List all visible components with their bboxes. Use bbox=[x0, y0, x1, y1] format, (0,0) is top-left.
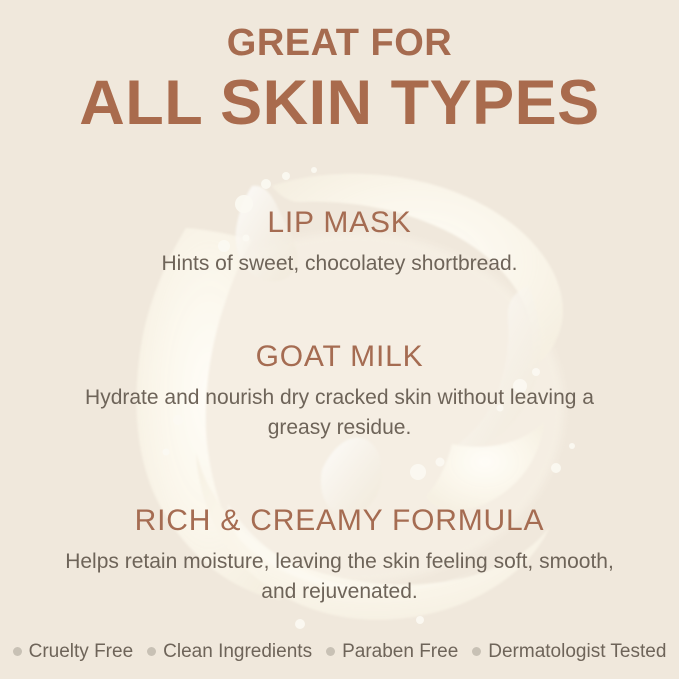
badge-paraben-free: Paraben Free bbox=[319, 642, 465, 661]
product-benefits-infographic: GREAT FOR ALL SKIN TYPES LIP MASK Hints … bbox=[0, 0, 679, 679]
feature-title: GOAT MILK bbox=[0, 340, 679, 373]
headline-line-2: ALL SKIN TYPES bbox=[0, 70, 679, 136]
feature-description: Hints of sweet, chocolatey shortbread. bbox=[60, 249, 620, 279]
bullet-dot-icon bbox=[13, 647, 22, 656]
bullet-dot-icon bbox=[326, 647, 335, 656]
feature-title: RICH & CREAMY FORMULA bbox=[0, 504, 679, 537]
headline-line-1: GREAT FOR bbox=[0, 24, 679, 62]
badge-cruelty-free: Cruelty Free bbox=[6, 642, 141, 661]
badge-label: Clean Ingredients bbox=[163, 642, 312, 661]
headline-block: GREAT FOR ALL SKIN TYPES bbox=[0, 24, 679, 136]
bullet-dot-icon bbox=[472, 647, 481, 656]
badge-label: Dermatologist Tested bbox=[488, 642, 666, 661]
feature-goat-milk: GOAT MILK Hydrate and nourish dry cracke… bbox=[0, 340, 679, 443]
feature-rich-creamy-formula: RICH & CREAMY FORMULA Helps retain moist… bbox=[0, 504, 679, 607]
feature-description: Helps retain moisture, leaving the skin … bbox=[60, 547, 620, 607]
badge-dermatologist-tested: Dermatologist Tested bbox=[465, 642, 673, 661]
feature-title: LIP MASK bbox=[0, 206, 679, 239]
feature-description: Hydrate and nourish dry cracked skin wit… bbox=[60, 383, 620, 443]
badge-bar: Cruelty Free Clean Ingredients Paraben F… bbox=[0, 642, 679, 661]
content-layer: GREAT FOR ALL SKIN TYPES LIP MASK Hints … bbox=[0, 0, 679, 679]
badge-label: Cruelty Free bbox=[29, 642, 134, 661]
badge-clean-ingredients: Clean Ingredients bbox=[140, 642, 319, 661]
bullet-dot-icon bbox=[147, 647, 156, 656]
feature-lip-mask: LIP MASK Hints of sweet, chocolatey shor… bbox=[0, 206, 679, 279]
badge-label: Paraben Free bbox=[342, 642, 458, 661]
